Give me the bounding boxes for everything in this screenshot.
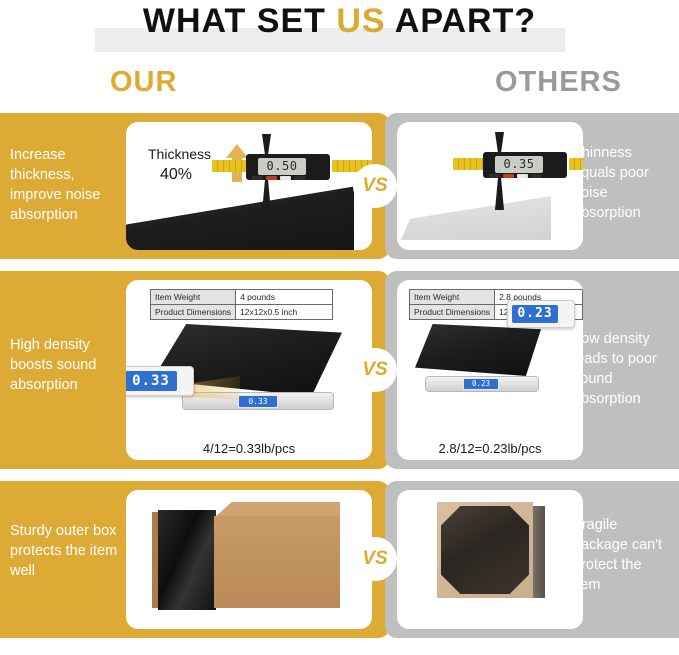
comparison-row-thickness: Increase thickness, improve noise absorp… — [0, 113, 679, 259]
others-label-density: Low density leads to poor sound absorpti… — [573, 329, 671, 409]
caliper-button-off — [489, 174, 500, 178]
our-image-card-thickness: Thickness 40% 0.50 — [126, 122, 372, 250]
caliper-button-on — [280, 176, 291, 180]
spec-key-dimensions: Product Dimensions — [410, 305, 495, 320]
table-row: Product Dimensions 12x12x0.5 inch — [151, 305, 333, 320]
vs-badge-row-2: VS — [355, 350, 395, 390]
our-block-density: High density boosts sound absorption Ite… — [0, 271, 390, 469]
our-label-density: High density boosts sound absorption — [10, 335, 122, 395]
table-row: Item Weight 4 pounds — [151, 290, 333, 305]
foam-panel-thin — [401, 196, 551, 240]
others-label-packaging: Fragile package can't protect the item — [573, 515, 671, 595]
our-image-card-density: Item Weight 4 pounds Product Dimensions … — [126, 280, 372, 460]
others-image-card-density: Item Weight 2.8 pounds Product Dimension… — [397, 280, 583, 460]
kraft-poly-bag-package — [437, 502, 533, 598]
our-block-packaging: Sturdy outer box protects the item well — [0, 481, 390, 638]
our-image-card-packaging — [126, 490, 372, 629]
package-side-face — [533, 506, 545, 598]
caliper-scale-left — [212, 160, 250, 172]
others-block-thickness: Thinness equals poor noise absorption 0.… — [385, 113, 679, 259]
comparison-row-packaging: Sturdy outer box protects the item well … — [0, 481, 679, 638]
caliper-upper-jaw — [262, 134, 271, 156]
zoom-reading-others: 0.23 — [512, 305, 558, 323]
caliper-reading-our: 0.50 — [258, 158, 306, 175]
scale-reading-our: 0.33 — [238, 395, 278, 408]
vs-badge-row-1: VS — [355, 166, 395, 206]
caliper-upper-jaw — [495, 132, 504, 154]
caliper-lower-jaw — [495, 176, 504, 210]
caliper-button-red — [266, 176, 277, 180]
caliper-lower-jaw — [262, 178, 271, 212]
others-density-caption: 2.8/12=0.23lb/pcs — [397, 441, 583, 456]
thickness-annotation-value: 40% — [160, 166, 192, 184]
title-part-1: WHAT SET — [143, 2, 336, 40]
scale-reading-others: 0.23 — [463, 378, 499, 390]
others-image-card-packaging — [397, 490, 583, 629]
caliper-button-zero — [531, 174, 542, 178]
title-part-2: APART? — [386, 2, 537, 40]
others-block-density: Low density leads to poor sound absorpti… — [385, 271, 679, 469]
foam-panel-thick — [126, 182, 354, 250]
others-block-packaging: Fragile package can't protect the item — [385, 481, 679, 638]
zoom-callout-others: 0.23 — [507, 300, 575, 328]
comparison-infographic: WHAT SET US APART? OUR OTHERS Increase t… — [0, 0, 679, 655]
title-highlight: US — [336, 2, 385, 40]
caliper-buttons — [252, 176, 314, 180]
our-label-thickness: Increase thickness, improve noise absorp… — [10, 145, 122, 225]
our-block-thickness: Increase thickness, improve noise absorp… — [0, 113, 390, 259]
zoom-callout-our: 0.33 — [126, 366, 194, 396]
cardboard-box — [214, 516, 340, 608]
caliper-reading-others: 0.35 — [495, 156, 543, 173]
caliper-buttons — [489, 174, 551, 178]
others-label-thickness: Thinness equals poor noise absorption — [573, 143, 671, 223]
spec-key-weight: Item Weight — [151, 290, 236, 305]
page-title: WHAT SET US APART? — [0, 0, 679, 42]
our-density-caption: 4/12=0.33lb/pcs — [126, 441, 372, 456]
others-image-card-thickness: 0.35 — [397, 122, 583, 250]
foam-panel-light — [415, 324, 541, 376]
our-label-packaging: Sturdy outer box protects the item well — [10, 521, 122, 581]
spec-key-dimensions: Product Dimensions — [151, 305, 236, 320]
vs-badge-row-3: VS — [355, 539, 395, 579]
spec-table-our: Item Weight 4 pounds Product Dimensions … — [150, 289, 333, 320]
caliper-scale-right — [569, 158, 583, 170]
spec-key-weight: Item Weight — [410, 290, 495, 305]
caliper-button-red — [503, 174, 514, 178]
spec-value-weight: 4 pounds — [236, 290, 333, 305]
spec-value-dimensions: 12x12x0.5 inch — [236, 305, 333, 320]
caliper-button-off — [252, 176, 263, 180]
column-header-our: OUR — [110, 62, 177, 102]
comparison-row-density: High density boosts sound absorption Ite… — [0, 271, 679, 469]
zoom-reading-our: 0.33 — [126, 371, 177, 391]
caliper-button-zero — [294, 176, 305, 180]
caliper-button-on — [517, 174, 528, 178]
thickness-annotation-label: Thickness — [148, 146, 211, 162]
wrapped-black-panel — [158, 510, 216, 610]
column-header-others: OTHERS — [495, 62, 622, 102]
caliper-scale-left — [453, 158, 487, 170]
package-dark-panel — [441, 506, 529, 594]
